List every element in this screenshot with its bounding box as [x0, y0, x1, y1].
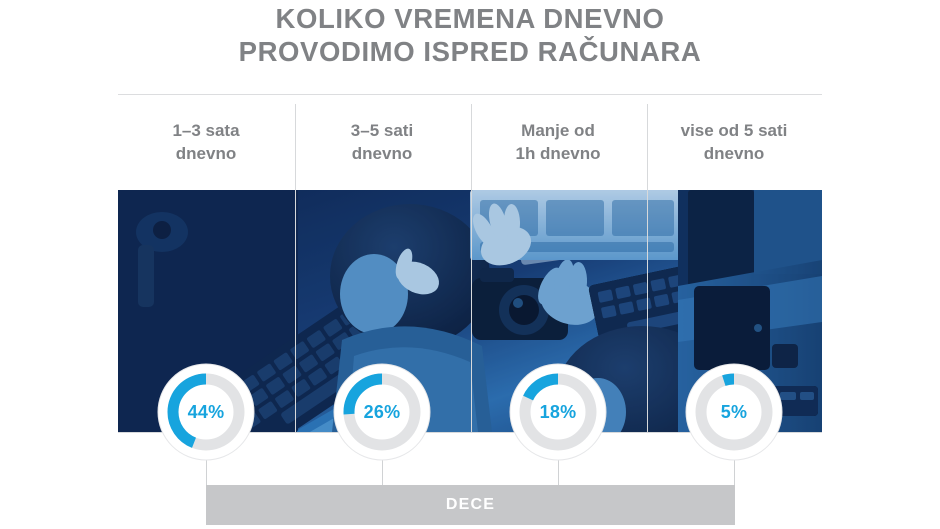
column-header-1-line2: dnevno: [118, 142, 294, 165]
donut-gauge-1: 44%: [157, 363, 255, 461]
donut-gauge-4-value: 5%: [685, 363, 783, 461]
donut-gauge-1-value: 44%: [157, 363, 255, 461]
column-header-1-line1: 1–3 sata: [172, 121, 239, 140]
column-divider-2: [471, 104, 472, 432]
column-header-4-line1: vise od 5 sati: [681, 121, 788, 140]
column-header-2-line2: dnevno: [294, 142, 470, 165]
bottom-category-bar: DECE: [206, 485, 735, 525]
infographic-root: KOLIKO VREMENA DNEVNO PROVODIMO ISPRED R…: [0, 0, 940, 529]
donut-gauge-2-value: 26%: [333, 363, 431, 461]
donut-gauge-3: 18%: [509, 363, 607, 461]
donut-gauge-3-value: 18%: [509, 363, 607, 461]
title-divider: [118, 94, 822, 95]
column-header-row: 1–3 sata dnevno 3–5 sati dnevno Manje od…: [118, 112, 822, 182]
column-header-3: Manje od 1h dnevno: [470, 112, 646, 182]
title-line-1: KOLIKO VREMENA DNEVNO: [0, 2, 940, 35]
column-divider-1: [295, 104, 296, 432]
column-header-3-line1: Manje od: [521, 121, 595, 140]
title-line-2: PROVODIMO ISPRED RAČUNARA: [0, 35, 940, 68]
column-header-4: vise od 5 sati dnevno: [646, 112, 822, 182]
donut-gauge-2: 26%: [333, 363, 431, 461]
donut-gauge-4: 5%: [685, 363, 783, 461]
bottom-category-label: DECE: [446, 496, 495, 514]
column-header-2-line1: 3–5 sati: [351, 121, 413, 140]
column-header-3-line2: 1h dnevno: [470, 142, 646, 165]
column-header-4-line2: dnevno: [646, 142, 822, 165]
page-title: KOLIKO VREMENA DNEVNO PROVODIMO ISPRED R…: [0, 2, 940, 68]
column-header-1: 1–3 sata dnevno: [118, 112, 294, 182]
column-header-2: 3–5 sati dnevno: [294, 112, 470, 182]
column-divider-3: [647, 104, 648, 432]
